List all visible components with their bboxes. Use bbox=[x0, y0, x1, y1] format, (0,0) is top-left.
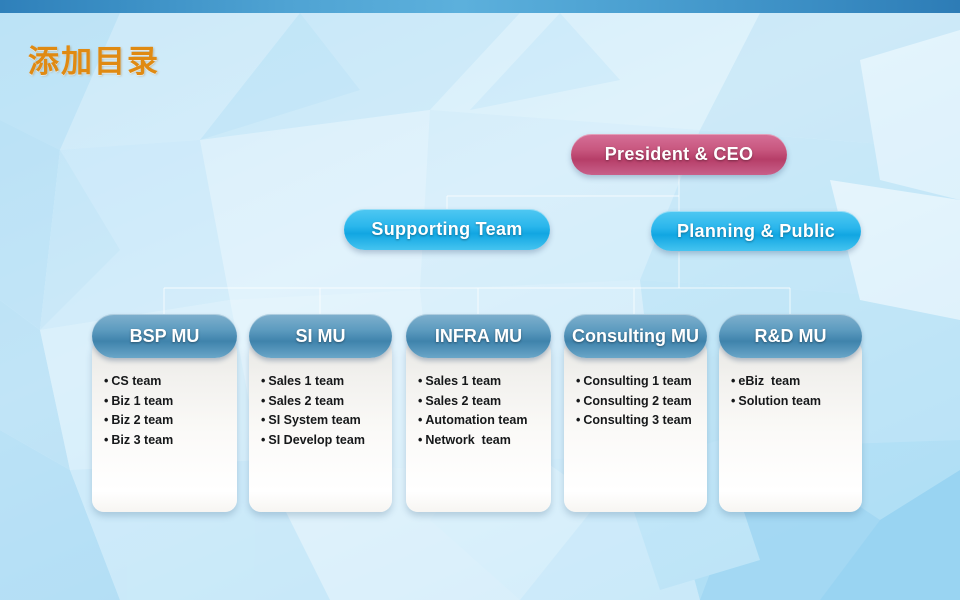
org-unit-card-si-mu[interactable]: SI MU •Sales 1 team •Sales 2 team •SI Sy… bbox=[249, 314, 392, 512]
list-item: •Biz 1 team bbox=[104, 392, 231, 412]
org-node-label: Supporting Team bbox=[371, 219, 522, 240]
bullet-icon: • bbox=[104, 374, 108, 388]
list-item: •Consulting 2 team bbox=[576, 392, 701, 412]
list-item: •Biz 3 team bbox=[104, 431, 231, 451]
team-label: eBiz team bbox=[738, 374, 800, 388]
list-item: •Biz 2 team bbox=[104, 411, 231, 431]
org-unit-card-consulting-mu[interactable]: Consulting MU •Consulting 1 team •Consul… bbox=[564, 314, 707, 512]
team-label: Sales 1 team bbox=[268, 374, 344, 388]
org-node-supporting-team[interactable]: Supporting Team bbox=[344, 209, 550, 250]
bullet-icon: • bbox=[261, 433, 265, 447]
team-label: Consulting 2 team bbox=[583, 394, 691, 408]
team-label: Sales 2 team bbox=[425, 394, 501, 408]
org-unit-title: R&D MU bbox=[755, 326, 827, 347]
bullet-icon: • bbox=[261, 394, 265, 408]
bullet-icon: • bbox=[731, 394, 735, 408]
org-unit-body bbox=[719, 340, 862, 512]
bullet-icon: • bbox=[576, 413, 580, 427]
bullet-icon: • bbox=[576, 394, 580, 408]
org-unit-team-list: •Consulting 1 team •Consulting 2 team •C… bbox=[576, 372, 701, 431]
team-label: Automation team bbox=[425, 413, 527, 427]
list-item: •Consulting 1 team bbox=[576, 372, 701, 392]
org-unit-card-infra-mu[interactable]: INFRA MU •Sales 1 team •Sales 2 team •Au… bbox=[406, 314, 551, 512]
team-label: Sales 1 team bbox=[425, 374, 501, 388]
org-node-label: Planning & Public bbox=[677, 221, 835, 242]
team-label: Biz 1 team bbox=[111, 394, 173, 408]
list-item: •Solution team bbox=[731, 392, 856, 412]
bullet-icon: • bbox=[261, 413, 265, 427]
list-item: •Consulting 3 team bbox=[576, 411, 701, 431]
list-item: •Network team bbox=[418, 431, 545, 451]
list-item: •Sales 1 team bbox=[418, 372, 545, 392]
bullet-icon: • bbox=[104, 413, 108, 427]
org-unit-title: SI MU bbox=[295, 326, 345, 347]
slide-canvas: 添加目录 President & CEO Supporting Team Pla… bbox=[0, 0, 960, 600]
bullet-icon: • bbox=[104, 394, 108, 408]
page-title: 添加目录 bbox=[28, 36, 160, 81]
bullet-icon: • bbox=[731, 374, 735, 388]
org-unit-title: Consulting MU bbox=[572, 326, 699, 347]
team-label: Solution team bbox=[738, 394, 821, 408]
team-label: Consulting 1 team bbox=[583, 374, 691, 388]
org-unit-team-list: •Sales 1 team •Sales 2 team •SI System t… bbox=[261, 372, 386, 450]
org-unit-header[interactable]: R&D MU bbox=[719, 314, 862, 358]
bullet-icon: • bbox=[576, 374, 580, 388]
list-item: •Sales 1 team bbox=[261, 372, 386, 392]
list-item: •CS team bbox=[104, 372, 231, 392]
org-unit-team-list: •Sales 1 team •Sales 2 team •Automation … bbox=[418, 372, 545, 450]
org-node-planning-public[interactable]: Planning & Public bbox=[651, 211, 861, 251]
team-label: SI Develop team bbox=[268, 433, 365, 447]
org-unit-header[interactable]: SI MU bbox=[249, 314, 392, 358]
org-unit-title: INFRA MU bbox=[435, 326, 522, 347]
bullet-icon: • bbox=[418, 433, 422, 447]
org-unit-card-rnd-mu[interactable]: R&D MU •eBiz team •Solution team bbox=[719, 314, 862, 512]
team-label: SI System team bbox=[268, 413, 360, 427]
bullet-icon: • bbox=[418, 374, 422, 388]
org-unit-title: BSP MU bbox=[130, 326, 200, 347]
org-unit-header[interactable]: Consulting MU bbox=[564, 314, 707, 358]
org-node-label: President & CEO bbox=[605, 144, 754, 165]
list-item: •Sales 2 team bbox=[418, 392, 545, 412]
bullet-icon: • bbox=[261, 374, 265, 388]
team-label: Sales 2 team bbox=[268, 394, 344, 408]
team-label: Network team bbox=[425, 433, 510, 447]
org-unit-card-bsp-mu[interactable]: BSP MU •CS team •Biz 1 team •Biz 2 team … bbox=[92, 314, 237, 512]
list-item: •eBiz team bbox=[731, 372, 856, 392]
org-unit-header[interactable]: BSP MU bbox=[92, 314, 237, 358]
bullet-icon: • bbox=[104, 433, 108, 447]
org-unit-header[interactable]: INFRA MU bbox=[406, 314, 551, 358]
org-unit-team-list: •eBiz team •Solution team bbox=[731, 372, 856, 411]
team-label: Biz 3 team bbox=[111, 433, 173, 447]
bullet-icon: • bbox=[418, 394, 422, 408]
list-item: •SI Develop team bbox=[261, 431, 386, 451]
org-node-president-ceo[interactable]: President & CEO bbox=[571, 134, 787, 175]
org-unit-team-list: •CS team •Biz 1 team •Biz 2 team •Biz 3 … bbox=[104, 372, 231, 450]
team-label: Consulting 3 team bbox=[583, 413, 691, 427]
list-item: •SI System team bbox=[261, 411, 386, 431]
list-item: •Automation team bbox=[418, 411, 545, 431]
team-label: Biz 2 team bbox=[111, 413, 173, 427]
bullet-icon: • bbox=[418, 413, 422, 427]
team-label: CS team bbox=[111, 374, 161, 388]
list-item: •Sales 2 team bbox=[261, 392, 386, 412]
